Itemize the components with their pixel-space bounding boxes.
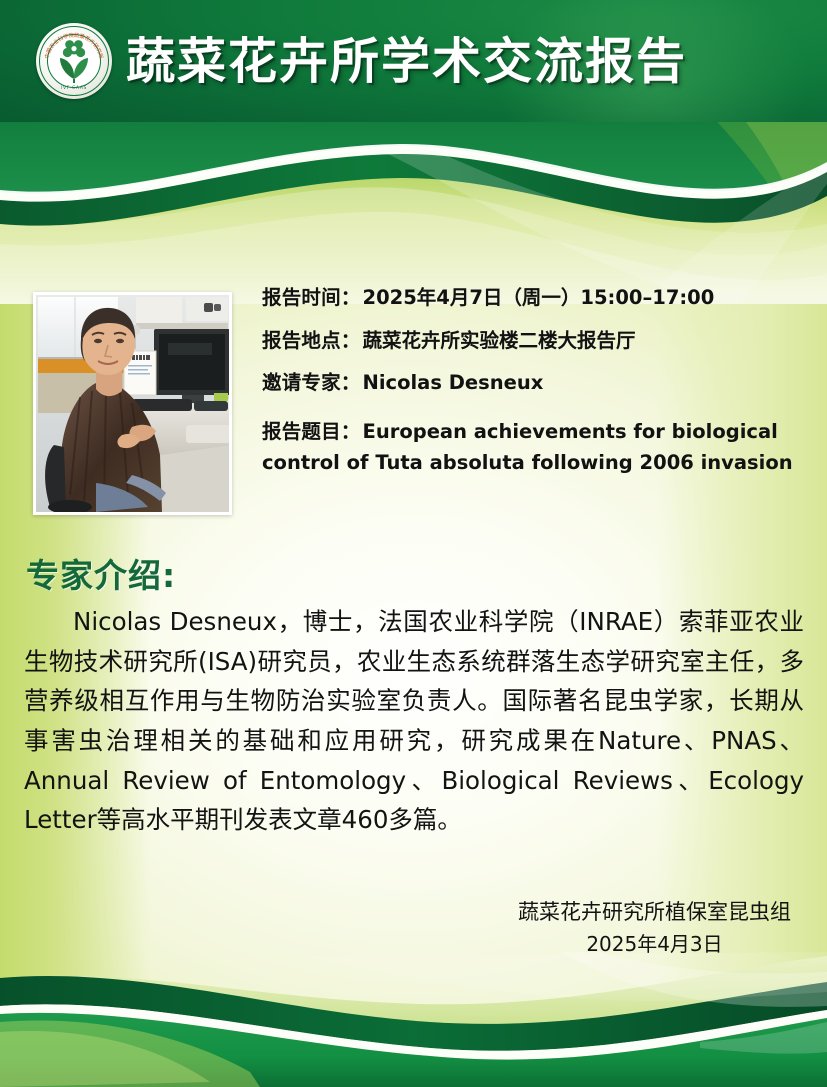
signature-org: 蔬菜花卉研究所植保室昆虫组 — [518, 896, 791, 929]
info-row-topic: 报告题目：European achievements for biologica… — [262, 416, 817, 479]
info-row-place: 报告地点：蔬菜花卉所实验楼二楼大报告厅 — [262, 331, 817, 351]
intro-heading: 专家介绍: — [26, 549, 176, 597]
speaker-photo — [33, 292, 232, 515]
bottom-wave-decoration — [0, 952, 827, 1087]
place-label: 报告地点： — [262, 329, 361, 352]
svg-text:IVF CAAS: IVF CAAS — [61, 85, 87, 91]
top-wave-decoration — [0, 104, 827, 304]
institute-emblem-icon: 中国农业科学院蔬菜花卉研究所 IVF CAAS — [36, 23, 112, 99]
info-row-time: 报告时间：2025年4月7日（周一）15:00–17:00 — [262, 288, 817, 308]
time-label: 报告时间： — [262, 286, 361, 309]
intro-body-text: Nicolas Desneux，博士，法国农业科学院（INRAE）索菲亚农业生物… — [24, 607, 804, 834]
page-title: 蔬菜花卉所学术交流报告 — [126, 37, 687, 86]
info-row-expert: 邀请专家：Nicolas Desneux — [262, 373, 817, 393]
poster-root: 中国农业科学院蔬菜花卉研究所 IVF CAAS — [0, 0, 827, 1087]
time-value: 2025年4月7日（周一）15:00–17:00 — [363, 286, 715, 309]
info-block: 报告时间：2025年4月7日（周一）15:00–17:00 报告地点：蔬菜花卉所… — [262, 288, 817, 479]
intro-body: Nicolas Desneux，博士，法国农业科学院（INRAE）索菲亚农业生物… — [24, 602, 804, 840]
header-band: 中国农业科学院蔬菜花卉研究所 IVF CAAS — [0, 0, 827, 122]
place-value: 蔬菜花卉所实验楼二楼大报告厅 — [363, 329, 636, 352]
topic-label: 报告题目： — [262, 420, 361, 443]
expert-value: Nicolas Desneux — [363, 371, 544, 394]
signature-block: 蔬菜花卉研究所植保室昆虫组 2025年4月3日 — [518, 896, 791, 960]
expert-label: 邀请专家： — [262, 371, 361, 394]
